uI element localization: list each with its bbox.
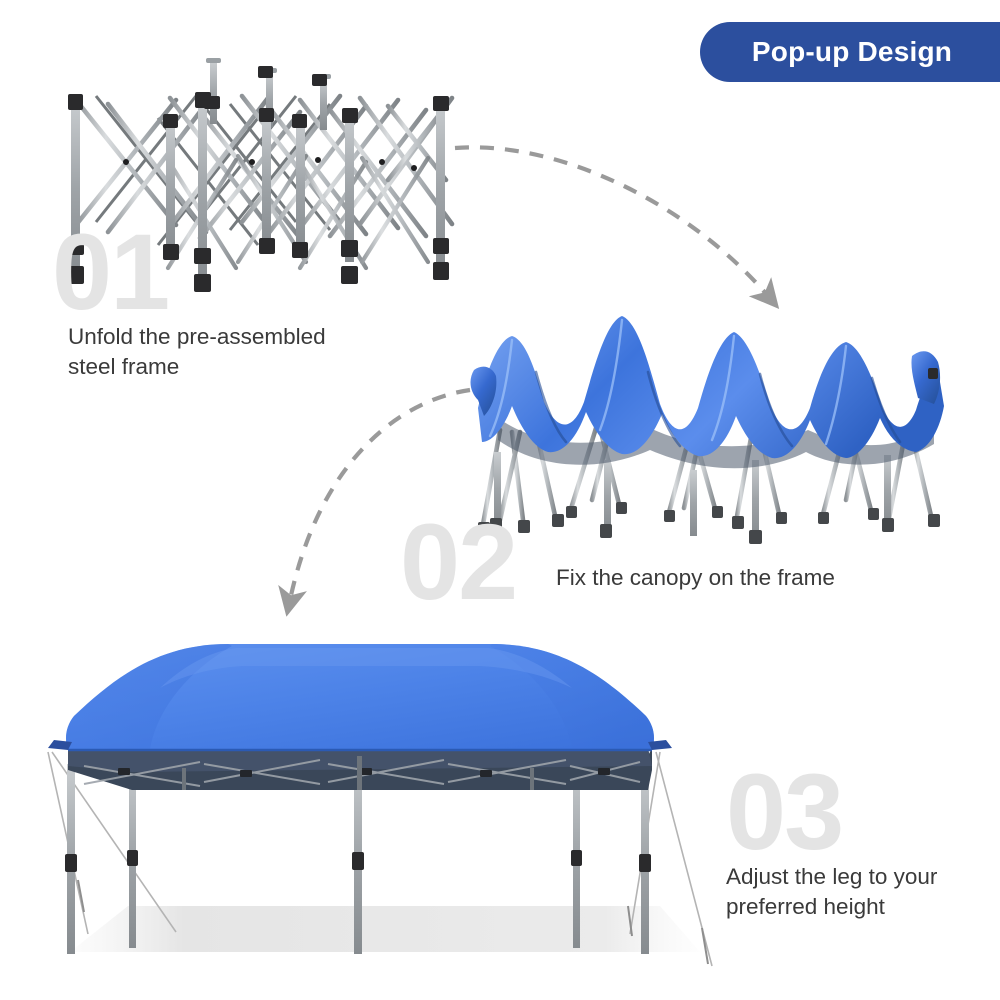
leg-clamp: [352, 852, 364, 870]
infographic-canvas: Pop-up Design 01 02 03 Unfold the pre-as…: [0, 0, 1000, 1000]
pop-up-design-banner: Pop-up Design: [700, 22, 1000, 82]
step-caption-03: Adjust the leg to your preferred height: [726, 862, 937, 921]
illustration-layer: [0, 0, 1000, 1000]
banner-label: Pop-up Design: [752, 36, 958, 68]
step-caption-01: Unfold the pre-assembled steel frame: [68, 322, 326, 381]
step-number-03: 03: [726, 758, 842, 866]
illustration-step-02-canopy-on-frame: [471, 316, 944, 544]
arrow-step1-to-step2-path: [455, 147, 768, 296]
leg-clamp: [65, 854, 77, 872]
step-number-02: 02: [400, 508, 516, 616]
leg-clamp: [639, 854, 651, 872]
step-number-01: 01: [52, 218, 168, 326]
leg-clamp: [571, 850, 582, 866]
step-caption-02: Fix the canopy on the frame: [556, 563, 835, 593]
leg-clamp: [127, 850, 138, 866]
illustration-step-03-assembled-tent: [48, 644, 712, 966]
